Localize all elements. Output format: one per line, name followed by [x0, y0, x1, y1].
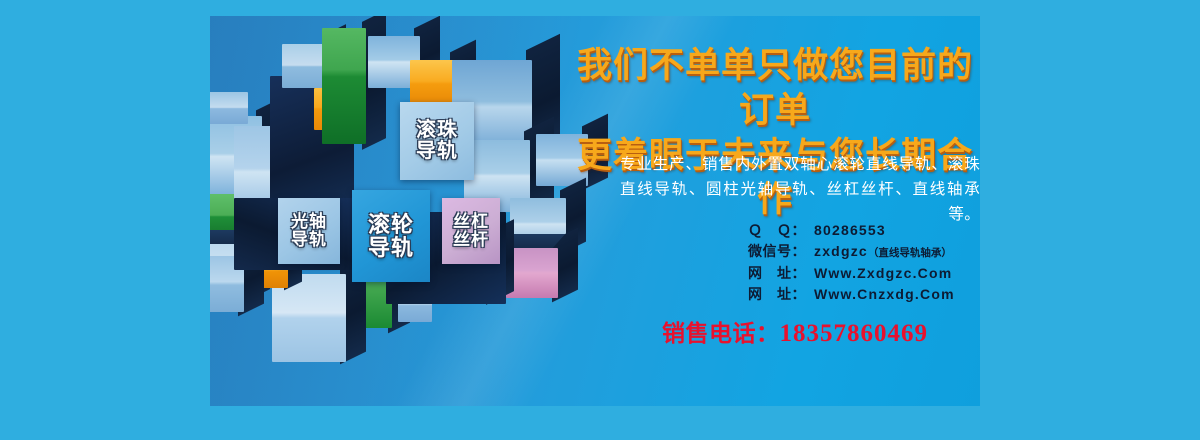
label-box-guangzhou-daogui[interactable]: 光轴 导轨 [278, 198, 340, 264]
contact-value[interactable]: Www.Zxdgzc.Com [814, 263, 952, 284]
contact-value[interactable]: zxdgzc [814, 241, 868, 262]
contact-label: 网 址： [748, 263, 814, 284]
headline-line-1: 我们不单单只做您目前的订单 [577, 46, 973, 130]
label-line1: 滚珠 [416, 120, 458, 141]
label-line2: 导轨 [416, 141, 458, 162]
sales-phone[interactable]: 销售电话：18357860469 [662, 314, 992, 348]
label-box-sigang-sigan[interactable]: 丝杠 丝杆 [442, 198, 500, 264]
label-line2: 导轨 [291, 231, 327, 249]
contact-label: 网 址： [748, 284, 814, 305]
contact-row-website-1: 网 址： Www.Zxdgzc.Com [748, 263, 988, 284]
label-line1: 滚轮 [368, 213, 414, 236]
contact-row-website-2: 网 址： Www.Cnzxdg.Com [748, 284, 988, 305]
contact-label: Ｑ Ｑ： [748, 220, 814, 241]
contact-block: Ｑ Ｑ： 80286553 微信号： zxdgzc （直线导轨轴承） 网 址： … [748, 220, 988, 305]
label-line1: 丝杠 [453, 213, 489, 231]
label-box-gunlun-daogui[interactable]: 滚轮 导轨 [352, 190, 430, 282]
label-line2: 丝杆 [453, 231, 489, 249]
contact-row-qq: Ｑ Ｑ： 80286553 [748, 220, 988, 241]
sales-phone-number[interactable]: 18357860469 [780, 320, 929, 347]
description-text: 专业生产、销售内外置双轴心滚轮直线导轨、滚珠直线导轨、圆柱光轴导轨、丝杠丝杆、直… [620, 152, 980, 227]
contact-value[interactable]: Www.Cnzxdg.Com [814, 284, 955, 305]
contact-value[interactable]: 80286553 [814, 220, 886, 241]
sales-phone-label: 销售电话： [662, 320, 780, 346]
contact-label: 微信号： [748, 241, 814, 262]
contact-row-wechat: 微信号： zxdgzc （直线导轨轴承） [748, 241, 988, 262]
contact-note: （直线导轨轴承） [868, 246, 952, 262]
label-line1: 光轴 [291, 213, 327, 231]
label-line2: 导轨 [368, 236, 414, 259]
label-box-gunzhu-daogui[interactable]: 滚珠 导轨 [400, 102, 474, 180]
promo-banner: 滚珠 导轨 光轴 导轨 滚轮 导轨 丝杠 丝杆 我们不单单只做您目前的订单 更着… [0, 0, 1200, 440]
cube-decor [322, 28, 366, 144]
cube-decor [282, 44, 326, 88]
cube-decor [410, 60, 454, 108]
cube-decor [210, 92, 248, 124]
